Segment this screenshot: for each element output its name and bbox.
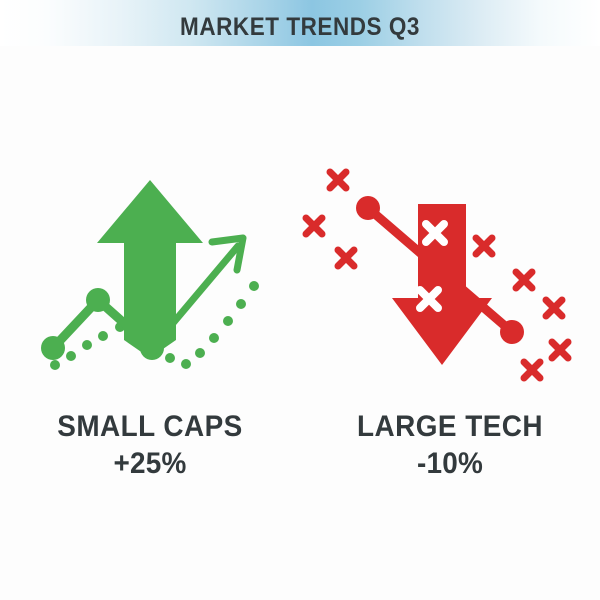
panel-large-tech: LARGE TECH -10% [300,160,600,500]
panel-value-small-caps: +25% [11,447,290,481]
infographic-canvas: MARKET TRENDS Q3 [0,0,600,600]
up-arrow-trend-icon [0,160,300,390]
panel-small-caps: SMALL CAPS +25% [0,160,300,500]
down-arrow-decline-icon [300,160,600,390]
panel-name-small-caps: SMALL CAPS [11,410,290,444]
page-title: MARKET TRENDS Q3 [30,13,570,42]
panel-name-large-tech: LARGE TECH [311,410,590,444]
panel-value-large-tech: -10% [311,447,590,481]
